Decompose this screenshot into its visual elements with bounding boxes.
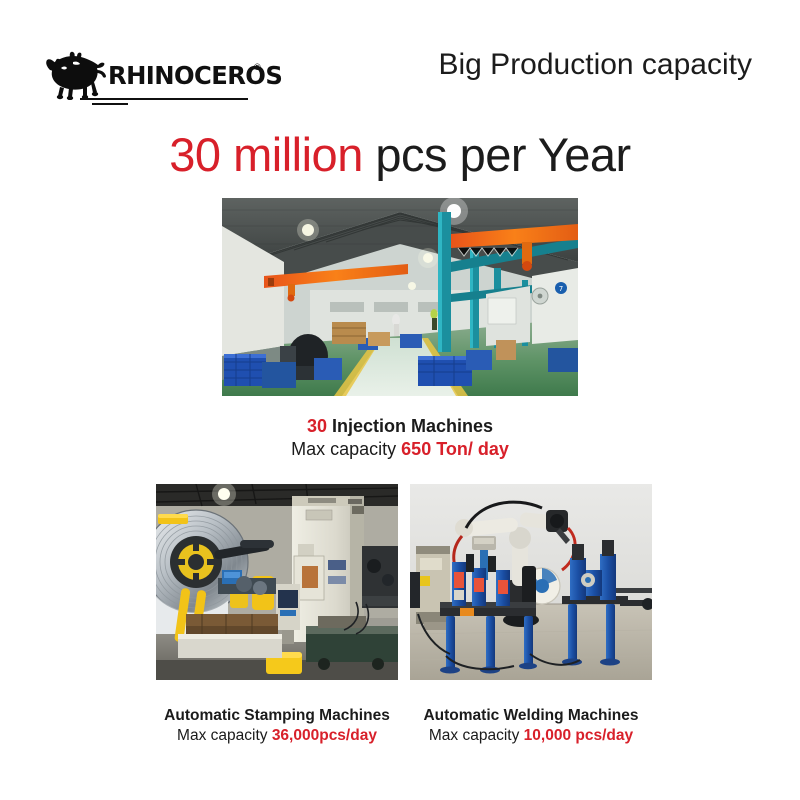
registered-mark-icon: ® [254,62,261,72]
welding-capacity-value: 10,000 pcs/day [524,727,633,744]
svg-text:7: 7 [559,285,563,293]
brand-logo: RHINOCEROS ® [36,50,246,104]
brand-underline [80,98,248,100]
welding-robot-photo [410,484,652,680]
capacity-statement-plain: pcs per Year [363,128,631,181]
brand-underline-short [92,103,128,105]
welding-caption: Automatic Welding Machines Max capacity … [400,706,662,746]
stamping-machine-photo [156,484,398,680]
injection-caption: 30 Injection Machines Max capacity 650 T… [222,415,578,462]
stamping-caption: Automatic Stamping Machines Max capacity… [146,706,408,746]
capacity-statement: 30 million pcs per Year [0,128,800,182]
stamping-capacity-label: Max capacity [177,727,272,744]
stamping-capacity-value: 36,000pcs/day [272,727,377,744]
injection-capacity-label: Max capacity [291,439,401,459]
injection-capacity-value: 650 Ton/ day [401,439,509,459]
welding-caption-line2: Max capacity 10,000 pcs/day [400,726,662,746]
factory-interior-photo: 7 [222,198,578,396]
capacity-statement-accent: 30 million [169,128,363,181]
injection-count: 30 [307,416,327,436]
page-header: RHINOCEROS ® Big Production capacity [0,48,800,106]
stamping-caption-line1: Automatic Stamping Machines [146,706,408,726]
welding-caption-line1: Automatic Welding Machines [400,706,662,726]
rhinoceros-icon [36,50,112,100]
injection-caption-line2: Max capacity 650 Ton/ day [222,438,578,461]
injection-caption-line1: 30 Injection Machines [222,415,578,438]
stamping-caption-line2: Max capacity 36,000pcs/day [146,726,408,746]
welding-capacity-label: Max capacity [429,727,524,744]
injection-label: Injection Machines [327,416,493,436]
page-title: Big Production capacity [438,48,752,82]
